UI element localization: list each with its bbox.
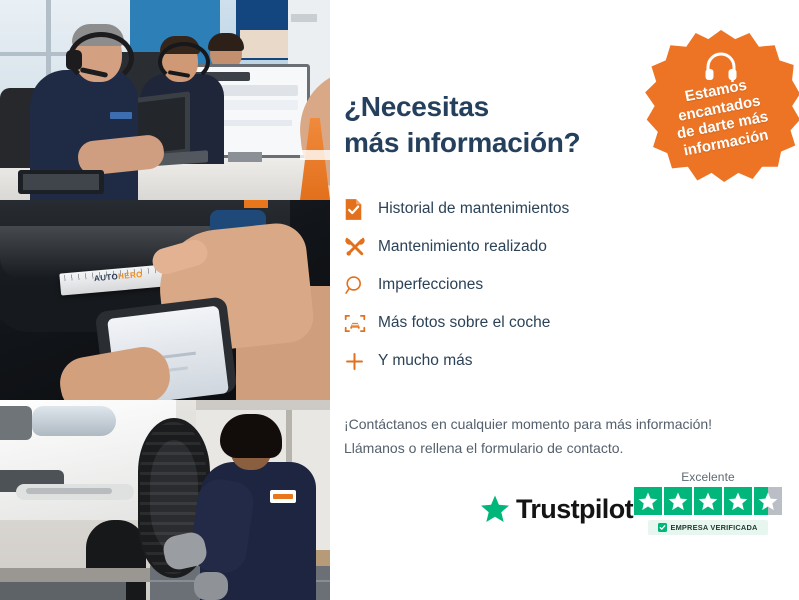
feature-item-more-photos: Más fotos sobre el coche [344, 304, 674, 342]
call-center-agents-photo [0, 0, 330, 200]
promo-badge: Estamos encantados de darte más informac… [642, 30, 799, 182]
star-2 [664, 487, 692, 515]
feature-label: Imperfecciones [378, 276, 483, 294]
contact-line-1: ¡Contáctanos en cualquier momento para m… [344, 416, 712, 432]
feature-item-maintenance-done: Mantenimiento realizado [344, 228, 674, 266]
plus-icon [344, 346, 378, 376]
car-photo-focus-icon [344, 308, 378, 338]
headline-line-2: más información? [344, 125, 644, 161]
crossed-tools-icon [344, 232, 378, 262]
content-panel: ¿Necesitas más información? Estamos enca… [330, 0, 799, 600]
checklist-document-icon [344, 194, 378, 224]
star-3 [694, 487, 722, 515]
feature-label: Historial de mantenimientos [378, 200, 569, 218]
trustpilot-star-icon [480, 494, 510, 524]
star-4 [724, 487, 752, 515]
headset-icon [704, 52, 738, 82]
feature-item-much-more: Y mucho más [344, 342, 674, 380]
star-5-half [754, 487, 782, 515]
verified-business-badge: EMPRESA VERIFICADA [648, 520, 768, 535]
feature-label: Mantenimiento realizado [378, 238, 547, 256]
trustpilot-widget[interactable]: Trustpilot Excelente [480, 470, 790, 554]
promo-banner: AUTOHERO [0, 0, 799, 600]
contact-text: ¡Contáctanos en cualquier momento para m… [344, 412, 784, 460]
star-rating [632, 487, 784, 515]
magnifier-icon [344, 270, 378, 300]
feature-item-maintenance-history: Historial de mantenimientos [344, 190, 674, 228]
page-title: ¿Necesitas más información? [344, 89, 644, 161]
trustpilot-logo[interactable]: Trustpilot [480, 492, 633, 526]
feature-item-imperfections: Imperfecciones [344, 266, 674, 304]
feature-list: Historial de mantenimientos Mantenimient… [344, 190, 674, 380]
photo-column: AUTOHERO [0, 0, 330, 600]
verified-badge-label: EMPRESA VERIFICADA [670, 523, 757, 532]
trustpilot-wordmark: Trustpilot [516, 494, 633, 525]
verified-check-icon [658, 523, 667, 532]
headline-line-1: ¿Necesitas [344, 91, 489, 122]
rating-label: Excelente [632, 470, 784, 484]
feature-label: Y mucho más [378, 352, 472, 370]
car-inspection-ruler-photo: AUTOHERO [0, 200, 330, 400]
contact-line-2: Llámanos o rellena el formulario de cont… [344, 440, 623, 456]
technician-wheel-photo [0, 400, 330, 600]
star-1 [634, 487, 662, 515]
feature-label: Más fotos sobre el coche [378, 314, 550, 332]
trustpilot-rating: Excelente [632, 470, 784, 535]
